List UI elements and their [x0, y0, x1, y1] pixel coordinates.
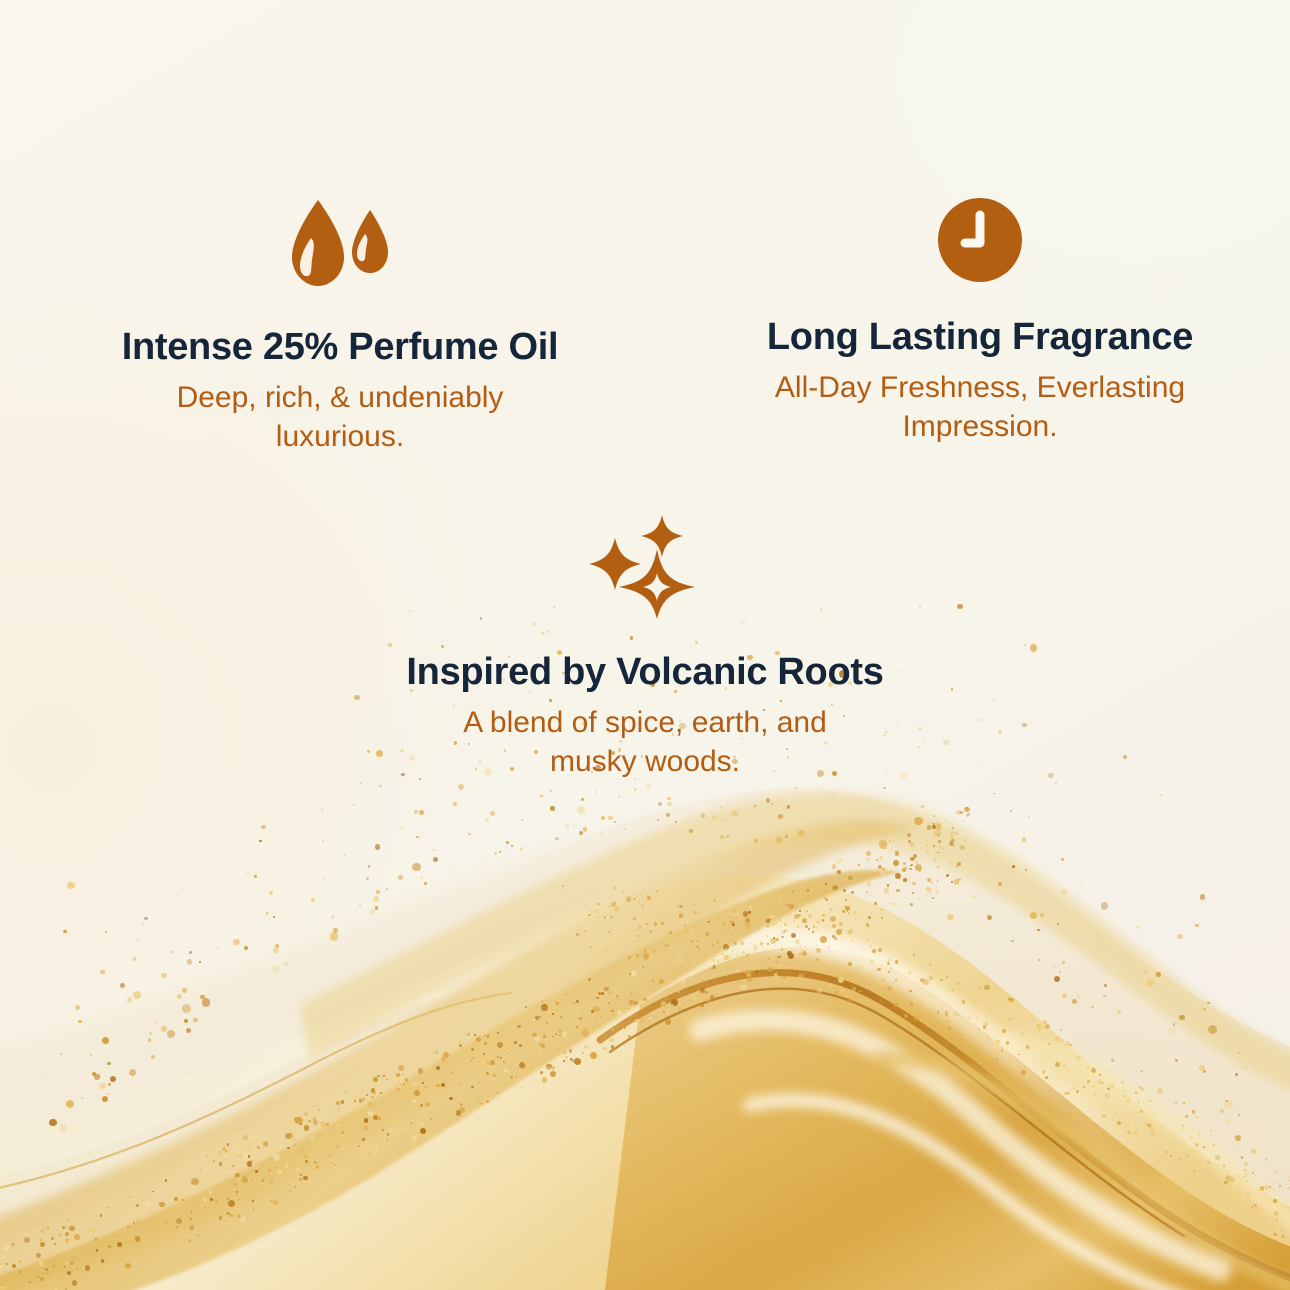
glitter-speck — [368, 1121, 370, 1123]
glitter-speck — [239, 1154, 242, 1157]
glitter-speck — [310, 1137, 314, 1141]
glitter-speck — [532, 1033, 537, 1038]
glitter-speck — [1066, 1041, 1071, 1046]
glitter-speck — [967, 828, 968, 829]
glitter-speck — [446, 1087, 448, 1089]
glitter-speck — [614, 821, 616, 823]
glitter-speck — [913, 953, 916, 956]
glitter-speck — [399, 1081, 400, 1082]
glitter-speck — [582, 1030, 589, 1037]
glitter-speck — [1266, 1193, 1268, 1195]
glitter-speck — [691, 995, 696, 1000]
glitter-speck — [689, 929, 694, 934]
glitter-speck — [246, 1145, 252, 1151]
glitter-speck — [989, 1002, 991, 1004]
glitter-speck — [661, 1001, 666, 1006]
glitter-speck — [366, 1094, 368, 1096]
glitter-speck — [3, 1255, 7, 1259]
glitter-speck — [78, 1020, 81, 1023]
glitter-speck — [458, 1041, 462, 1045]
glitter-speck — [414, 1090, 421, 1097]
glitter-speck — [770, 938, 776, 944]
glitter-speck — [467, 1034, 468, 1035]
glitter-speck — [652, 1019, 654, 1021]
glitter-speck — [163, 1220, 168, 1225]
glitter-speck — [1252, 1172, 1254, 1174]
glitter-speck — [784, 923, 788, 927]
glitter-speck — [937, 852, 939, 854]
glitter-speck — [460, 1103, 463, 1106]
glitter-speck — [951, 831, 954, 834]
oil-droplets-icon — [40, 196, 640, 296]
glitter-speck — [1149, 1100, 1152, 1103]
glitter-speck — [341, 925, 343, 927]
glitter-speck — [1117, 1010, 1121, 1014]
glitter-speck — [386, 1093, 389, 1096]
glitter-speck — [299, 1173, 301, 1175]
glitter-speck — [797, 926, 799, 928]
glitter-speck — [510, 1076, 513, 1079]
glitter-speck — [209, 1004, 211, 1006]
glitter-speck — [1103, 995, 1106, 998]
glitter-speck — [883, 996, 885, 998]
glitter-speck — [766, 798, 771, 803]
feature-block-long-lasting-fragrance: Long Lasting Fragrance All-Day Freshness… — [700, 196, 1260, 446]
glitter-speck — [323, 1128, 325, 1130]
glitter-speck — [20, 1281, 22, 1283]
glitter-speck — [895, 873, 901, 879]
glitter-speck — [99, 1083, 106, 1090]
glitter-speck — [588, 914, 591, 917]
glitter-speck — [746, 954, 749, 957]
glitter-speck — [515, 1075, 518, 1078]
glitter-speck — [1091, 1006, 1093, 1008]
glitter-speck — [483, 791, 485, 793]
glitter-speck — [741, 956, 743, 958]
glitter-speck — [1101, 902, 1109, 910]
glitter-speck — [651, 939, 654, 942]
glitter-speck — [786, 963, 788, 965]
glitter-speck — [745, 929, 747, 931]
glitter-speck — [243, 1135, 248, 1140]
glitter-speck — [616, 995, 618, 997]
glitter-speck — [342, 736, 344, 738]
glitter-speck — [101, 1259, 105, 1263]
glitter-speck — [978, 1028, 980, 1030]
glitter-speck — [375, 1147, 378, 1150]
glitter-speck — [170, 951, 172, 953]
glitter-speck — [957, 862, 961, 866]
glitter-speck — [926, 887, 931, 892]
glitter-speck — [510, 1050, 512, 1052]
glitter-speck — [832, 864, 836, 868]
glitter-speck — [327, 1158, 329, 1160]
glitter-speck — [754, 967, 756, 969]
glitter-speck — [49, 1119, 57, 1127]
glitter-speck — [24, 1237, 30, 1243]
glitter-speck — [532, 1041, 534, 1043]
glitter-speck — [335, 1167, 337, 1169]
glitter-speck — [541, 1004, 547, 1010]
glitter-speck — [768, 958, 770, 960]
glitter-speck — [781, 948, 784, 951]
glitter-speck — [222, 1147, 226, 1151]
glitter-speck — [805, 925, 808, 928]
glitter-speck — [865, 885, 867, 887]
glitter-speck — [133, 1203, 135, 1205]
glitter-speck — [611, 902, 616, 907]
glitter-speck — [655, 970, 657, 972]
glitter-speck — [934, 969, 938, 973]
glitter-speck — [848, 962, 853, 967]
glitter-speck — [387, 1133, 390, 1136]
glitter-speck — [1147, 1124, 1151, 1128]
glitter-speck — [360, 782, 362, 784]
glitter-speck — [129, 1069, 137, 1077]
glitter-speck — [617, 1010, 622, 1015]
glitter-speck — [255, 1166, 259, 1170]
glitter-speck — [108, 1245, 112, 1249]
glitter-speck — [238, 1177, 244, 1183]
glitter-speck — [766, 935, 768, 937]
glitter-speck — [96, 1275, 98, 1277]
glitter-speck — [657, 989, 659, 991]
glitter-speck — [497, 1056, 499, 1058]
glitter-speck — [2, 1286, 7, 1290]
glitter-speck — [743, 911, 749, 917]
glitter-speck — [520, 847, 523, 850]
glitter-speck — [139, 1225, 141, 1227]
glitter-speck — [853, 911, 857, 915]
glitter-speck — [629, 1000, 634, 1005]
glitter-speck — [322, 840, 324, 842]
glitter-speck — [1123, 1095, 1126, 1098]
glitter-speck — [364, 1126, 368, 1130]
glitter-speck — [1265, 1158, 1268, 1161]
glitter-speck — [966, 807, 968, 809]
glitter-speck — [1066, 1092, 1069, 1095]
glitter-speck — [1153, 1086, 1155, 1088]
glitter-speck — [758, 929, 760, 931]
glitter-speck — [1282, 1228, 1284, 1230]
glitter-speck — [769, 915, 775, 921]
glitter-speck — [830, 916, 836, 922]
glitter-speck — [1208, 1025, 1217, 1034]
glitter-speck — [695, 940, 698, 943]
glitter-speck — [485, 818, 489, 822]
glitter-speck — [633, 917, 636, 920]
glitter-speck — [226, 1212, 230, 1216]
glitter-speck — [706, 998, 711, 1003]
glitter-speck — [711, 911, 713, 913]
glitter-speck — [1194, 1150, 1196, 1152]
glitter-speck — [839, 922, 843, 926]
glitter-speck — [0, 1287, 2, 1290]
glitter-speck — [433, 849, 435, 851]
glitter-speck — [665, 1019, 671, 1025]
glitter-speck — [611, 989, 614, 992]
glitter-speck — [255, 1170, 258, 1173]
glitter-speck — [747, 953, 750, 956]
glitter-speck — [108, 1083, 111, 1086]
glitter-speck — [739, 923, 742, 926]
glitter-speck — [913, 888, 914, 889]
glitter-speck — [1087, 1080, 1091, 1084]
glitter-speck — [574, 1002, 576, 1004]
glitter-speck — [292, 1183, 294, 1185]
glitter-speck — [516, 1038, 518, 1040]
glitter-speck — [296, 1167, 301, 1172]
glitter-speck — [667, 802, 672, 807]
glitter-speck — [469, 1047, 475, 1053]
glitter-speck — [1238, 1114, 1240, 1116]
glitter-speck — [1046, 1040, 1048, 1042]
glitter-speck — [331, 915, 335, 919]
glitter-speck — [1159, 696, 1161, 698]
glitter-speck — [228, 1176, 230, 1178]
glitter-speck — [940, 965, 941, 966]
glitter-speck — [97, 1073, 102, 1078]
glitter-speck — [746, 970, 752, 976]
glitter-speck — [359, 904, 361, 906]
glitter-speck — [755, 970, 758, 973]
glitter-speck — [777, 964, 782, 969]
glitter-speck — [886, 985, 887, 986]
glitter-speck — [601, 992, 604, 995]
glitter-speck — [403, 1083, 405, 1085]
glitter-speck — [1021, 1070, 1026, 1075]
glitter-speck — [665, 997, 668, 1000]
glitter-speck — [1037, 1024, 1040, 1027]
glitter-speck — [18, 1260, 21, 1263]
glitter-speck — [726, 835, 729, 838]
glitter-speck — [847, 967, 849, 969]
glitter-speck — [983, 985, 985, 987]
glitter-speck — [478, 1061, 480, 1063]
glitter-speck — [366, 877, 369, 880]
glitter-speck — [1048, 1043, 1051, 1046]
glitter-speck — [562, 885, 564, 887]
glitter-speck — [1257, 1187, 1259, 1189]
glitter-speck — [631, 993, 633, 995]
glitter-speck — [1026, 1045, 1030, 1049]
glitter-speck — [1064, 1092, 1068, 1096]
glitter-speck — [65, 1261, 69, 1265]
glitter-speck — [656, 890, 658, 892]
glitter-speck — [398, 1086, 400, 1088]
glitter-speck — [211, 1217, 213, 1219]
clock-icon — [700, 196, 1260, 284]
glitter-speck — [418, 1068, 424, 1074]
glitter-speck — [325, 827, 327, 829]
glitter-speck — [4, 1245, 10, 1251]
glitter-speck — [669, 985, 671, 987]
glitter-speck — [357, 1158, 359, 1160]
glitter-speck — [1145, 1122, 1148, 1125]
glitter-speck — [771, 930, 773, 932]
glitter-speck — [304, 1112, 308, 1116]
glitter-speck — [1251, 1206, 1253, 1208]
glitter-speck — [314, 1123, 316, 1125]
glitter-speck — [447, 1076, 453, 1082]
glitter-speck — [588, 978, 591, 981]
glitter-speck — [740, 941, 744, 945]
glitter-speck — [151, 1255, 153, 1257]
glitter-speck — [1054, 976, 1060, 982]
glitter-speck — [81, 1097, 83, 1099]
glitter-speck — [458, 784, 464, 790]
glitter-speck — [1282, 1235, 1284, 1237]
glitter-speck — [133, 957, 137, 961]
glitter-speck — [803, 921, 806, 924]
glitter-speck — [798, 903, 801, 906]
glitter-speck — [791, 933, 796, 938]
glitter-speck — [90, 1227, 96, 1233]
glitter-speck — [903, 862, 906, 865]
glitter-speck — [490, 1065, 494, 1069]
glitter-speck — [883, 787, 886, 790]
glitter-speck — [605, 949, 607, 951]
glitter-speck — [601, 816, 605, 820]
glitter-speck — [320, 1121, 326, 1127]
glitter-speck — [682, 967, 684, 969]
glitter-speck — [1276, 1182, 1278, 1184]
glitter-speck — [1077, 996, 1080, 999]
glitter-speck — [1244, 1169, 1246, 1171]
glitter-speck — [797, 914, 801, 918]
glitter-speck — [622, 978, 627, 983]
glitter-speck — [946, 976, 948, 978]
glitter-speck — [564, 833, 567, 836]
glitter-speck — [995, 1051, 1001, 1057]
glitter-speck — [866, 891, 868, 893]
glitter-speck — [490, 811, 495, 816]
glitter-speck — [584, 930, 586, 932]
glitter-speck — [497, 1042, 503, 1048]
glitter-speck — [497, 1037, 499, 1039]
glitter-speck — [525, 1006, 527, 1008]
glitter-speck — [1176, 977, 1178, 979]
glitter-speck — [677, 1007, 681, 1011]
glitter-speck — [82, 1266, 85, 1269]
glitter-speck — [983, 1025, 987, 1029]
glitter-speck — [731, 969, 735, 973]
glitter-speck — [724, 930, 726, 932]
glitter-speck — [736, 975, 740, 979]
glitter-speck — [304, 1125, 310, 1131]
glitter-speck — [938, 840, 941, 843]
glitter-speck — [471, 1048, 474, 1051]
glitter-speck — [1173, 1023, 1176, 1026]
glitter-speck — [483, 1053, 485, 1055]
glitter-speck — [125, 1244, 128, 1247]
glitter-speck — [730, 959, 736, 965]
glitter-speck — [235, 1173, 239, 1177]
glitter-speck — [771, 803, 773, 805]
glitter-speck — [300, 1149, 305, 1154]
glitter-speck — [574, 1058, 581, 1065]
glitter-speck — [636, 962, 639, 965]
glitter-speck — [550, 790, 552, 792]
glitter-speck — [579, 831, 583, 835]
glitter-speck — [465, 1109, 466, 1110]
glitter-speck — [1109, 1119, 1111, 1121]
glitter-speck — [771, 914, 774, 917]
glitter-speck — [871, 960, 874, 963]
glitter-speck — [590, 1052, 597, 1059]
glitter-speck — [927, 845, 928, 846]
glitter-speck — [584, 1045, 588, 1049]
glitter-speck — [928, 994, 930, 996]
glitter-speck — [923, 979, 929, 985]
glitter-speck — [292, 1163, 294, 1165]
glitter-speck — [590, 910, 593, 913]
glitter-speck — [1083, 1086, 1085, 1088]
glitter-speck — [552, 1013, 555, 1016]
glitter-speck — [225, 1150, 228, 1153]
glitter-speck — [910, 857, 914, 861]
glitter-speck — [912, 857, 916, 861]
glitter-speck — [91, 1223, 93, 1225]
glitter-speck — [720, 806, 722, 808]
glitter-speck — [151, 1055, 155, 1059]
glitter-speck — [733, 929, 735, 931]
glitter-speck — [136, 1220, 140, 1224]
glitter-speck — [285, 1133, 292, 1140]
glitter-speck — [659, 979, 664, 984]
glitter-speck — [42, 1273, 44, 1275]
glitter-speck — [1167, 1098, 1170, 1101]
glitter-speck — [187, 1226, 189, 1228]
glitter-speck — [1091, 1068, 1096, 1073]
glitter-speck — [878, 858, 880, 860]
glitter-speck — [962, 1000, 966, 1004]
glitter-speck — [492, 1078, 494, 1080]
glitter-speck — [852, 987, 856, 991]
glitter-speck — [106, 1093, 108, 1095]
glitter-speck — [736, 968, 740, 972]
glitter-speck — [10, 1261, 13, 1264]
glitter-speck — [1210, 1129, 1213, 1132]
glitter-speck — [889, 878, 891, 880]
glitter-speck — [337, 1124, 340, 1127]
glitter-speck — [1022, 837, 1026, 841]
glitter-speck — [273, 947, 278, 952]
glitter-speck — [964, 807, 970, 813]
glitter-speck — [1072, 1086, 1076, 1090]
glitter-speck — [1127, 1131, 1131, 1135]
glitter-speck — [1135, 926, 1139, 930]
glitter-speck — [1011, 940, 1014, 943]
glitter-speck — [164, 1190, 167, 1193]
glitter-speck — [518, 1035, 519, 1036]
glitter-speck — [742, 951, 745, 954]
glitter-speck — [484, 1035, 486, 1037]
glitter-speck — [1227, 1181, 1229, 1183]
glitter-speck — [624, 1027, 626, 1029]
glitter-speck — [666, 1010, 670, 1014]
glitter-speck — [523, 1015, 525, 1017]
glitter-speck — [11, 1274, 13, 1276]
glitter-speck — [1241, 1156, 1244, 1159]
glitter-speck — [37, 1276, 39, 1278]
glitter-speck — [363, 1110, 365, 1112]
glitter-speck — [1238, 1186, 1241, 1189]
glitter-speck — [823, 875, 825, 877]
glitter-speck — [955, 810, 960, 815]
glitter-speck — [1100, 1111, 1102, 1113]
glitter-speck — [741, 985, 747, 991]
